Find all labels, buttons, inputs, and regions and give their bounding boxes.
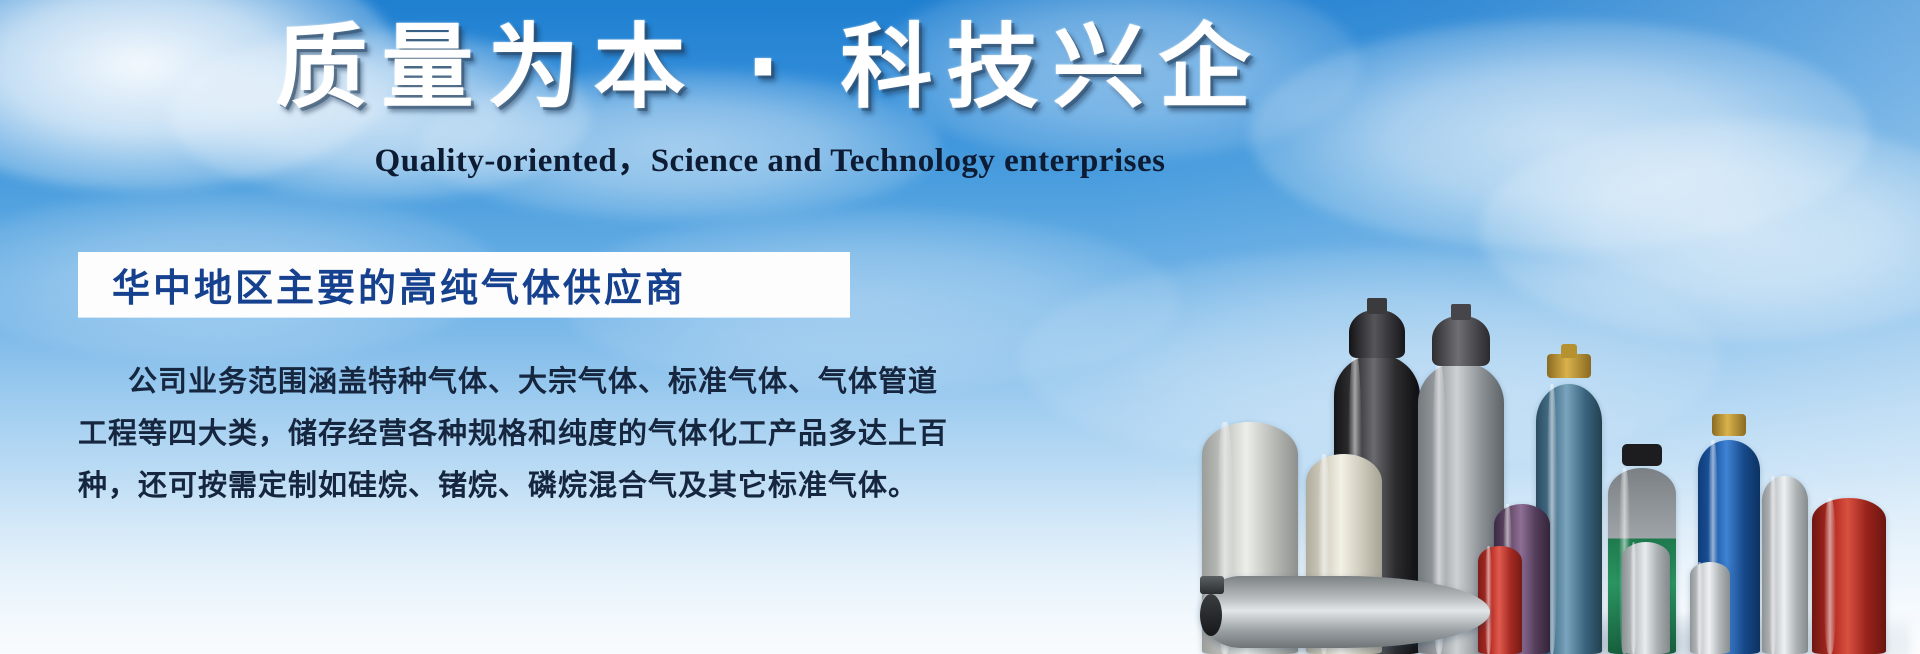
valve-knob bbox=[1367, 298, 1387, 314]
headline-chinese: 质量为本 · 科技兴企 bbox=[0, 14, 1540, 123]
cylinder-aluminium bbox=[1762, 476, 1808, 654]
black-valve bbox=[1622, 444, 1662, 466]
cylinder-highlight bbox=[1769, 476, 1776, 654]
brass-valve bbox=[1712, 414, 1746, 436]
cylinder-alu-mini bbox=[1690, 562, 1730, 654]
cylinder-highlight bbox=[1630, 542, 1638, 654]
cylinder-red-small bbox=[1478, 546, 1522, 654]
cylinder-red-short bbox=[1812, 498, 1886, 654]
cylinder-neck bbox=[1561, 344, 1577, 358]
cylinder-alu-small bbox=[1622, 542, 1670, 654]
body-paragraph: 公司业务范围涵盖特种气体、大宗气体、标准气体、气体管道 工程等四大类，储存经营各… bbox=[78, 356, 868, 512]
lying-valve bbox=[1200, 576, 1224, 594]
body-line: 公司业务范围涵盖特种气体、大宗气体、标准气体、气体管道 bbox=[78, 356, 868, 408]
cylinder-highlight bbox=[1696, 562, 1702, 654]
valve-guard bbox=[1432, 316, 1490, 366]
subbanner-text: 华中地区主要的高纯气体供应商 bbox=[78, 257, 686, 312]
cylinder-highlight bbox=[1485, 546, 1492, 654]
body-line: 工程等四大类，储存经营各种规格和纯度的气体化工产品多达上百 bbox=[78, 408, 868, 460]
headline-english: Quality-oriented，Science and Technology … bbox=[0, 133, 1540, 181]
valve-guard bbox=[1349, 310, 1405, 358]
body-line: 种，还可按需定制如硅烷、锗烷、磷烷混合气及其它标准气体。 bbox=[78, 460, 868, 512]
valve-knob bbox=[1451, 304, 1471, 320]
headline-block: 质量为本 · 科技兴企 Quality-oriented，Science and… bbox=[0, 14, 1540, 181]
cylinder-lying-grey bbox=[1200, 576, 1490, 648]
cylinder-highlight bbox=[1824, 498, 1836, 654]
gas-cylinder-lineup bbox=[1200, 234, 1920, 654]
banner-image: 质量为本 · 科技兴企 Quality-oriented，Science and… bbox=[0, 0, 1920, 654]
lying-endcap bbox=[1200, 594, 1222, 636]
subbanner-box: 华中地区主要的高纯气体供应商 bbox=[78, 252, 850, 317]
